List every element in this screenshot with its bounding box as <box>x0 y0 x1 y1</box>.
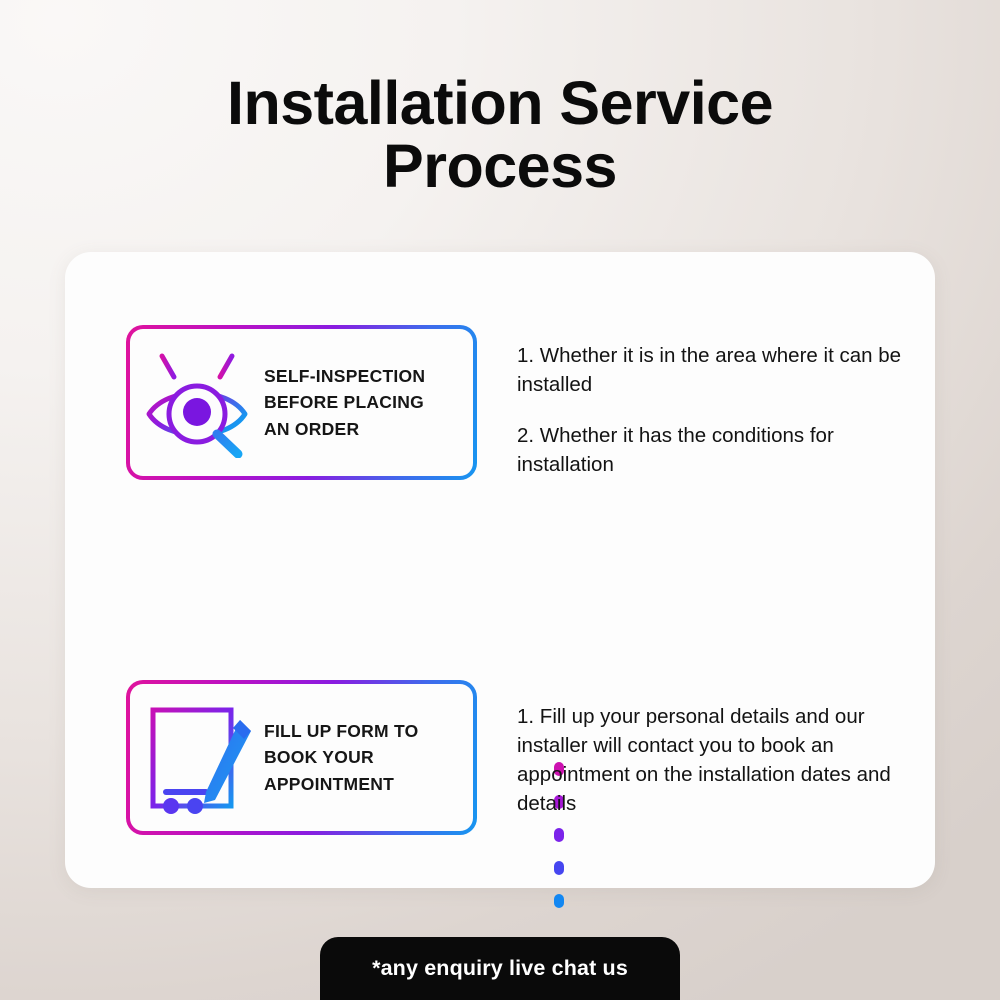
process-step-2: FILL UP FORM TO BOOK YOUR APPOINTMENT 1.… <box>126 680 916 835</box>
step-1-label: SELF-INSPECTION BEFORE PLACING AN ORDER <box>260 363 461 443</box>
footer-banner[interactable]: *any enquiry live chat us <box>320 937 680 1000</box>
process-step-1: SELF-INSPECTION BEFORE PLACING AN ORDER … <box>126 325 916 480</box>
step-2-note-1: 1. Fill up your personal details and our… <box>517 702 916 818</box>
footer-banner-text: *any enquiry live chat us <box>372 956 628 981</box>
connector-dot <box>554 861 564 875</box>
process-panel: SELF-INSPECTION BEFORE PLACING AN ORDER … <box>65 252 935 888</box>
step-2-notes: 1. Fill up your personal details and our… <box>477 680 916 818</box>
step-2-label-box[interactable]: FILL UP FORM TO BOOK YOUR APPOINTMENT <box>126 680 477 835</box>
step-1-note-2: 2. Whether it has the conditions for ins… <box>517 421 916 479</box>
step-1-label-box-inner: SELF-INSPECTION BEFORE PLACING AN ORDER <box>130 329 473 476</box>
connector-dot <box>554 894 564 908</box>
step-2-label: FILL UP FORM TO BOOK YOUR APPOINTMENT <box>260 718 461 798</box>
step-1-notes: 1. Whether it is in the area where it ca… <box>477 325 916 479</box>
eye-magnifier-icon <box>142 347 260 459</box>
step-2-label-box-inner: FILL UP FORM TO BOOK YOUR APPOINTMENT <box>130 684 473 831</box>
page-title: Installation Service Process <box>0 72 1000 199</box>
step-1-note-1: 1. Whether it is in the area where it ca… <box>517 341 916 399</box>
infographic-canvas: Installation Service Process <box>0 0 1000 1000</box>
step-1-label-box[interactable]: SELF-INSPECTION BEFORE PLACING AN ORDER <box>126 325 477 480</box>
form-pencil-icon <box>142 702 260 814</box>
